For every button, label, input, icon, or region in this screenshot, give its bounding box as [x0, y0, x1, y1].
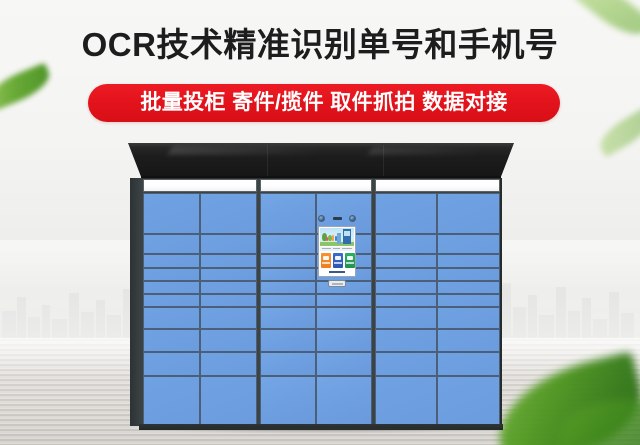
locker-door[interactable]	[260, 281, 316, 294]
feature-banner-text: 批量投柜 寄件/揽件 取件抓拍 数据对接	[140, 91, 507, 115]
express-locker-cabinet	[130, 143, 512, 430]
locker-bay-right	[375, 179, 500, 425]
locker-door[interactable]	[200, 307, 257, 329]
bay-grid-left	[143, 193, 257, 425]
roof-highlight-left	[168, 146, 323, 155]
locker-door[interactable]	[375, 352, 437, 376]
feature-banner: 批量投柜 寄件/揽件 取件抓拍 数据对接	[88, 84, 560, 122]
locker-door[interactable]	[316, 376, 372, 425]
locker-door[interactable]	[437, 294, 500, 307]
ir-sensor-icon	[333, 217, 342, 220]
locker-door[interactable]	[143, 329, 200, 352]
locker-bay-left	[143, 179, 257, 425]
locker-door[interactable]	[200, 294, 257, 307]
locker-door[interactable]	[437, 307, 500, 329]
locker-door[interactable]	[143, 294, 200, 307]
locker-door[interactable]	[260, 329, 316, 352]
locker-door[interactable]	[260, 294, 316, 307]
locker-door[interactable]	[437, 254, 500, 268]
screen-footer	[320, 269, 354, 275]
locker-door[interactable]	[437, 281, 500, 294]
locker-door[interactable]	[375, 234, 437, 254]
locker-door[interactable]	[260, 234, 316, 254]
locker-ground-shadow	[134, 428, 508, 434]
bay-header-left	[143, 179, 257, 192]
locker-door[interactable]	[375, 329, 437, 352]
locker-door[interactable]	[200, 254, 257, 268]
bay-grid-right	[375, 193, 500, 425]
locker-door[interactable]	[200, 329, 257, 352]
locker-door[interactable]	[200, 193, 257, 234]
locker-door[interactable]	[143, 268, 200, 281]
locker-door[interactable]	[375, 254, 437, 268]
deposit-parcel-button[interactable]	[321, 253, 331, 268]
page-title: OCR技术精准识别单号和手机号	[0, 24, 640, 66]
card-reader-slot[interactable]	[328, 280, 346, 287]
locker-door[interactable]	[375, 281, 437, 294]
locker-door[interactable]	[200, 376, 257, 425]
locker-door[interactable]	[143, 307, 200, 329]
locker-door[interactable]	[260, 268, 316, 281]
send-parcel-button[interactable]	[345, 253, 355, 268]
locker-door[interactable]	[260, 376, 316, 425]
locker-door[interactable]	[437, 234, 500, 254]
locker-door[interactable]	[375, 376, 437, 425]
locker-door[interactable]	[375, 193, 437, 234]
screen-caption-bar	[320, 247, 354, 251]
bay-header-center	[260, 179, 372, 192]
pickup-parcel-button[interactable]	[333, 253, 343, 268]
locker-door[interactable]	[437, 329, 500, 352]
locker-door[interactable]	[316, 307, 372, 329]
locker-door[interactable]	[143, 281, 200, 294]
locker-door[interactable]	[200, 352, 257, 376]
locker-door[interactable]	[316, 329, 372, 352]
locker-door[interactable]	[143, 234, 200, 254]
bay-header-right	[375, 179, 500, 192]
locker-door[interactable]	[143, 376, 200, 425]
locker-door[interactable]	[260, 254, 316, 268]
locker-door[interactable]	[200, 281, 257, 294]
locker-door[interactable]	[437, 193, 500, 234]
locker-door[interactable]	[437, 376, 500, 425]
locker-door[interactable]	[375, 268, 437, 281]
locker-door[interactable]	[316, 294, 372, 307]
locker-door[interactable]	[375, 294, 437, 307]
locker-right-edge	[500, 178, 502, 426]
locker-door[interactable]	[200, 268, 257, 281]
locker-door[interactable]	[260, 352, 316, 376]
locker-door[interactable]	[437, 352, 500, 376]
scene-stage: OCR技术精准识别单号和手机号 批量投柜 寄件/揽件 取件抓拍 数据对接	[0, 0, 640, 445]
locker-door[interactable]	[260, 193, 316, 234]
kiosk-screen[interactable]	[318, 226, 356, 277]
camera-lens-icon	[349, 215, 356, 222]
camera-row	[318, 215, 356, 222]
locker-side-panel	[130, 178, 142, 426]
locker-door[interactable]	[200, 234, 257, 254]
roof-highlight-right	[368, 147, 482, 155]
screen-ad-illustration	[320, 228, 354, 246]
locker-door[interactable]	[316, 352, 372, 376]
locker-door[interactable]	[143, 193, 200, 234]
camera-lens-icon	[318, 215, 325, 222]
locker-door[interactable]	[260, 307, 316, 329]
kiosk-button-row	[321, 253, 355, 268]
locker-door[interactable]	[375, 307, 437, 329]
locker-door[interactable]	[437, 268, 500, 281]
kiosk-terminal	[318, 215, 356, 288]
locker-door[interactable]	[143, 352, 200, 376]
locker-door[interactable]	[143, 254, 200, 268]
